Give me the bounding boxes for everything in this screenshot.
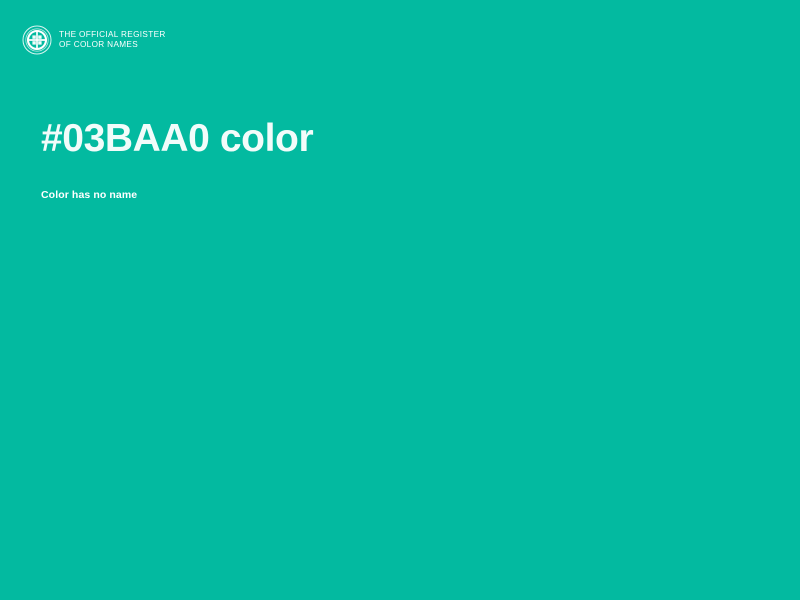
color-name-status: Color has no name — [41, 161, 741, 203]
color-page: THE OFFICIAL REGISTER OF COLOR NAMES #03… — [0, 0, 800, 600]
brand-wordmark: THE OFFICIAL REGISTER OF COLOR NAMES — [59, 30, 166, 50]
main-content: #03BAA0 color Color has no name — [41, 118, 741, 203]
brand-wordmark-line-2: OF COLOR NAMES — [59, 40, 166, 50]
circular-seal-emblem-icon — [22, 25, 52, 55]
brand-logo[interactable]: THE OFFICIAL REGISTER OF COLOR NAMES — [22, 25, 166, 55]
brand-wordmark-line-1: THE OFFICIAL REGISTER — [59, 30, 166, 40]
page-title: #03BAA0 color — [41, 118, 741, 161]
